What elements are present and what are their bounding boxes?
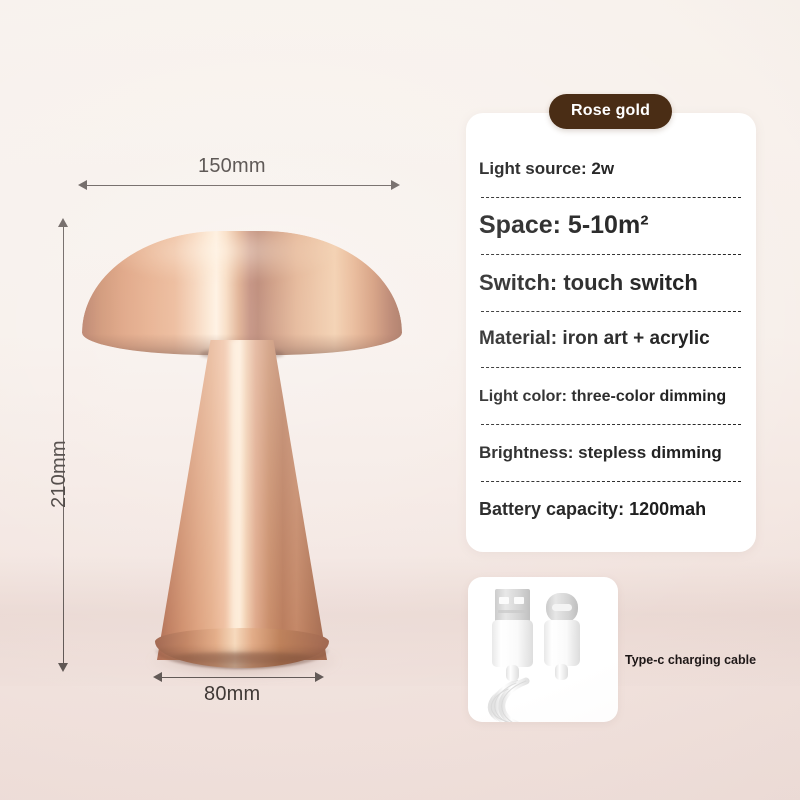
accessory-label-charging-cable: Type-c charging cable [625,653,756,667]
dimension-label-base-width: 80mm [204,683,260,706]
dimension-arrow-base-width [153,672,324,682]
dome-specular-highlight [101,231,383,291]
spec-row-label: Switch: touch switch [479,271,698,295]
arrow-head-right [315,672,324,682]
spec-row-label: Material: iron art + acrylic [479,329,710,350]
charging-cable-illustration [468,577,618,722]
base-contact-shadow [160,652,324,666]
finish-badge-rose-gold: Rose gold [549,94,672,129]
spec-row: Space: 5-10m² [479,198,743,254]
arrow-shaft [84,185,394,186]
spec-row: Brightness: stepless dimming [479,425,743,481]
arrow-shaft [159,677,318,678]
lamp-shade-dome [82,231,402,355]
dimension-label-shade-width: 150mm [198,155,266,178]
specification-list: Light source: 2wSpace: 5-10m²Switch: tou… [466,113,756,552]
spec-row-label: Light source: 2w [479,160,614,179]
spec-row: Battery capacity: 1200mah [479,482,743,538]
dimension-label-total-height: 210mm [48,440,71,508]
usb-c-connector [544,593,580,703]
arrow-head-right [391,180,400,190]
spec-row: Light source: 2w [479,141,743,197]
dimension-arrow-shade-width [78,180,400,190]
spec-row-label: Space: 5-10m² [479,212,649,240]
stem-specular-highlight [227,340,246,660]
accessory-card-charging-cable [468,577,618,722]
product-image-canvas: 150mm 210mm 80mm Light source: 2wSpace: … [0,0,800,800]
lamp-stem-cone [157,340,327,660]
arrow-head-bottom [58,663,68,672]
spec-row-label: Brightness: stepless dimming [479,444,722,463]
spec-row-label: Battery capacity: 1200mah [479,500,706,520]
specification-card: Light source: 2wSpace: 5-10m²Switch: tou… [466,113,756,552]
spec-row: Switch: touch switch [479,255,743,311]
spec-row-label: Light color: three-color dimming [479,388,726,406]
spec-row: Material: iron art + acrylic [479,312,743,368]
spec-row: Light color: three-color dimming [479,368,743,424]
